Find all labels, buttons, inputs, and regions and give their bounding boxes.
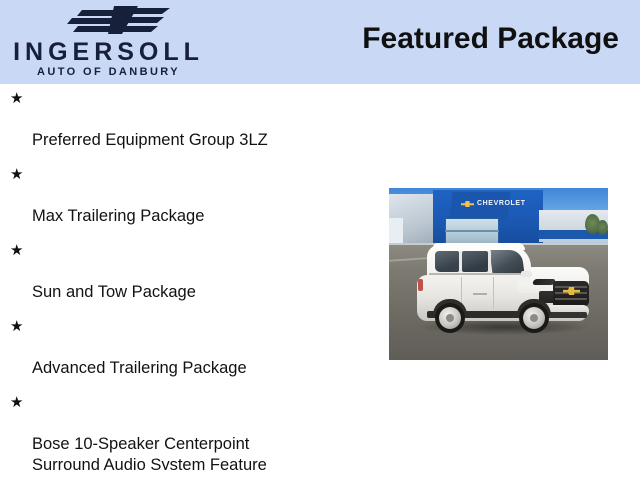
star-bullet-icon: ★	[10, 240, 23, 261]
winged-stripes-emblem-icon	[52, 2, 172, 38]
feature-list: ★ Preferred Equipment Group 3LZ ★ Max Tr…	[7, 88, 387, 480]
header-band: INGERSOLL AUTO OF DANBURY Featured Packa…	[0, 0, 640, 84]
star-bullet-icon: ★	[10, 392, 23, 413]
list-item: ★ Max Trailering Package	[7, 164, 387, 227]
dealership-sign-text: CHEVROLET	[477, 200, 526, 207]
suv-windshield	[490, 250, 525, 274]
suv-rear-window	[435, 251, 459, 272]
suv-vehicle	[413, 241, 591, 339]
suv-side-window	[462, 251, 488, 272]
suv-grille-bar	[555, 298, 587, 300]
suv-side-badge	[473, 293, 487, 295]
page-title: Featured Package	[362, 22, 619, 56]
suv-rear-wheel	[435, 303, 465, 333]
list-item: ★ Advanced Trailering Package	[7, 316, 387, 379]
suv-pillar	[488, 251, 491, 272]
footer-spacer	[0, 470, 640, 480]
dealer-tagline: AUTO OF DANBURY	[6, 67, 211, 78]
dealer-wordmark: INGERSOLL	[6, 40, 211, 65]
suv-beltline	[429, 273, 525, 275]
suv-door-seam	[493, 277, 494, 309]
list-item-label: Advanced Trailering Package	[32, 359, 247, 377]
dealer-logo: INGERSOLL AUTO OF DANBURY	[0, 0, 215, 84]
suv-taillight	[418, 279, 423, 291]
suv-roof	[433, 243, 525, 250]
suv-side-mirror	[521, 271, 532, 277]
star-bullet-icon: ★	[10, 164, 23, 185]
star-bullet-icon: ★	[10, 88, 23, 109]
featured-package-slide: INGERSOLL AUTO OF DANBURY Featured Packa…	[0, 0, 640, 480]
list-item-label: Preferred Equipment Group 3LZ	[32, 131, 268, 149]
photo-showroom-window-mullion	[445, 230, 499, 232]
vehicle-photo: CHEVROLET	[389, 188, 608, 360]
star-bullet-icon: ★	[10, 316, 23, 337]
suv-front-wheel	[519, 303, 549, 333]
list-item-label: Bose 10-Speaker Centerpoint Surround Aud…	[32, 435, 267, 474]
suv-rear-rim	[439, 307, 461, 329]
suv-pillar	[459, 251, 462, 272]
list-item: ★ Sun and Tow Package	[7, 240, 387, 303]
list-item-label: Max Trailering Package	[32, 207, 204, 225]
photo-tree	[597, 220, 608, 235]
list-item: ★ Preferred Equipment Group 3LZ	[7, 88, 387, 151]
suv-bumper-lower	[545, 312, 587, 318]
suv-front-rim	[523, 307, 545, 329]
list-item: ★ Bose 10-Speaker Centerpoint Surround A…	[7, 392, 387, 476]
list-item-label: Sun and Tow Package	[32, 283, 196, 301]
